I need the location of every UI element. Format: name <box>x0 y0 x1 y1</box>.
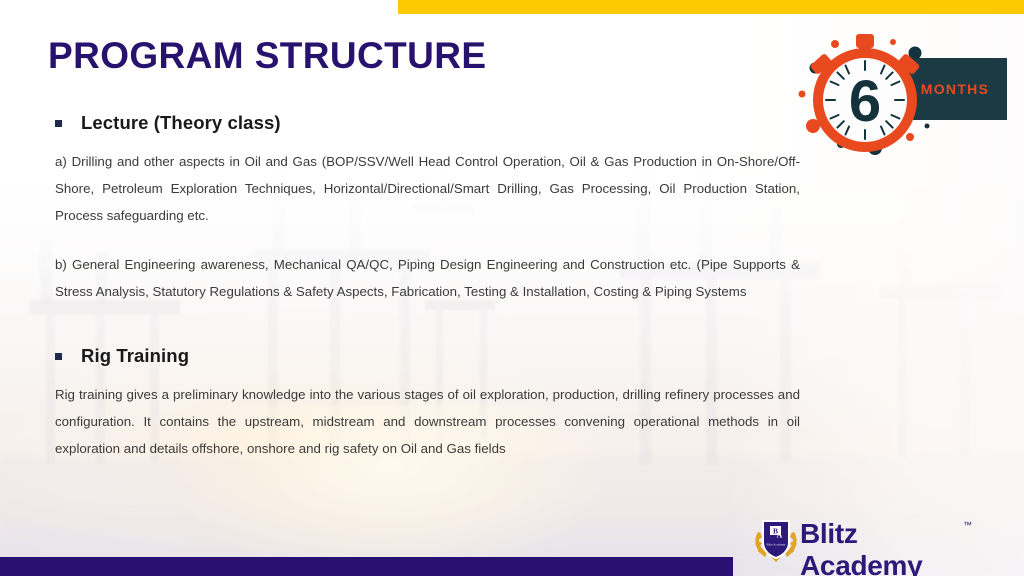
stopwatch-icon: 6 <box>775 22 1010 162</box>
section-heading-label: Lecture (Theory class) <box>81 112 281 134</box>
section-heading-label: Rig Training <box>81 345 189 367</box>
bottom-accent-bar <box>0 557 733 576</box>
slide-canvas: PROGRAM STRUCTURE MONTHS <box>0 0 1024 576</box>
lecture-paragraph-b: b) General Engineering awareness, Mechan… <box>55 251 800 305</box>
svg-text:A: A <box>777 531 783 540</box>
brand-name: Blitz Academy <box>800 518 980 576</box>
svg-text:Blitz Academy: Blitz Academy <box>766 543 785 547</box>
trademark-symbol: ™ <box>963 520 972 530</box>
page-title: PROGRAM STRUCTURE <box>48 35 486 77</box>
duration-badge: MONTHS <box>775 22 1010 162</box>
bullet-square-icon <box>55 120 62 127</box>
shield-crest-icon: B A Blitz Academy <box>752 512 800 562</box>
content-body: Lecture (Theory class) a) Drilling and o… <box>55 112 800 462</box>
lecture-paragraph-a: a) Drilling and other aspects in Oil and… <box>55 148 800 229</box>
top-accent-bar <box>398 0 1024 14</box>
duration-number: 6 <box>849 69 881 134</box>
rig-training-paragraph: Rig training gives a preliminary knowled… <box>55 381 800 462</box>
section-heading-lecture: Lecture (Theory class) <box>55 112 800 134</box>
brand-logo: B A Blitz Academy Blitz Academy ™ <box>752 512 980 564</box>
section-heading-rig-training: Rig Training <box>55 345 800 367</box>
bullet-square-icon <box>55 353 62 360</box>
